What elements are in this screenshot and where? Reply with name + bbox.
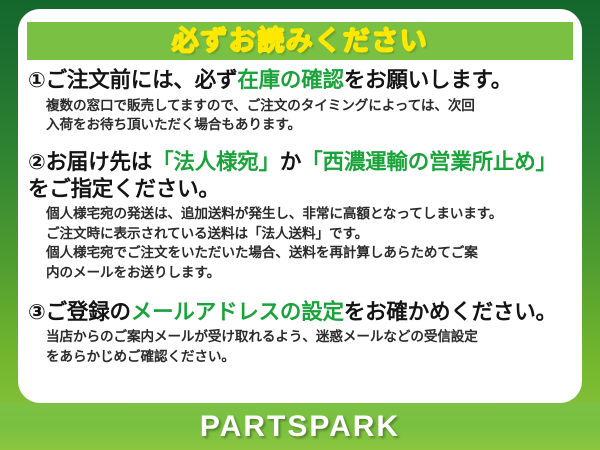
section-3-heading: ③ご登録のメールアドレスの設定をお確かめください。 xyxy=(28,299,572,326)
page-title: 必ずお読みください xyxy=(172,28,429,55)
section-2-number: ② xyxy=(28,151,46,174)
section-2-heading-part-1: お届け先は xyxy=(46,150,153,174)
section-1-body-line-2: 入荷をお待ち頂いただく場合もあります。 xyxy=(46,115,572,135)
section-2-body-line-1: 個人様宅宛の発送は、追加送料が発生し、非常に高額となってしまいます。 xyxy=(46,204,572,224)
section-3-body-line-1: 当店からのご案内メールが受け取れるよう、迷惑メールなどの受信設定 xyxy=(46,327,572,347)
notice-content: ①ご注文前には、必ず在庫の確認をお願いします。 複数の窓口で販売してますので、ご… xyxy=(18,67,582,374)
section-3-body: 当店からのご案内メールが受け取れるよう、迷惑メールなどの受信設定 をあらかじめご… xyxy=(28,327,572,366)
section-1-heading-highlight: 在庫の確認 xyxy=(237,68,344,92)
section-3-heading-part-3: をお確かめください。 xyxy=(344,300,557,324)
section-1-number: ① xyxy=(28,69,46,92)
notice-section-2: ②お届け先は「法人様宛」か「西濃運輸の営業所止め」 をご指定ください。 個人様宅… xyxy=(28,149,572,283)
section-2-heading-line-2: をご指定ください。 xyxy=(28,176,572,202)
section-2-body-line-3: 個人様宅宛でご注文をいただいた場合、送料を再計算しあらためてご案 xyxy=(46,243,572,263)
section-2-heading-part-3: か xyxy=(280,150,301,174)
section-2-body: 個人様宅宛の発送は、追加送料が発生し、非常に高額となってしまいます。 ご注文時に… xyxy=(28,204,572,283)
section-2-heading: ②お届け先は「法人様宛」か「西濃運輸の営業所止め」 xyxy=(28,149,572,176)
notice-section-3: ③ご登録のメールアドレスの設定をお確かめください。 当店からのご案内メールが受け… xyxy=(28,299,572,367)
section-1-heading: ①ご注文前には、必ず在庫の確認をお願いします。 xyxy=(28,67,572,94)
section-1-heading-part-1: ご注文前には、必ず xyxy=(46,68,238,92)
section-3-body-line-2: をあらかじめご確認ください。 xyxy=(46,347,572,367)
section-1-body-line-1: 複数の窓口で販売してますので、ご注文のタイミングによっては、次回 xyxy=(46,96,572,116)
section-2-heading-highlight-1: 「法人様宛」 xyxy=(152,150,280,174)
brand-logo: PARTSPARK xyxy=(200,412,400,442)
section-3-number: ③ xyxy=(28,301,46,324)
section-3-heading-highlight: メールアドレスの設定 xyxy=(131,300,344,324)
footer-band: PARTSPARK xyxy=(0,403,600,450)
notice-card: 必ずお読みください ①ご注文前には、必ず在庫の確認をお願いします。 複数の窓口で… xyxy=(18,9,582,403)
section-2-body-line-2: ご注文時に表示されている送料は「法人送料」です。 xyxy=(46,224,572,244)
section-1-heading-part-3: をお願いします。 xyxy=(344,68,512,92)
notice-banner: 必ずお読みください ①ご注文前には、必ず在庫の確認をお願いします。 複数の窓口で… xyxy=(0,0,600,450)
section-3-heading-part-1: ご登録の xyxy=(46,300,131,324)
header-band: 必ずお読みください xyxy=(27,22,573,60)
section-2-heading-highlight-2: 「西濃運輸の営業所止め」 xyxy=(301,150,557,174)
section-1-body: 複数の窓口で販売してますので、ご注文のタイミングによっては、次回 入荷をお待ち頂… xyxy=(28,96,572,135)
notice-section-1: ①ご注文前には、必ず在庫の確認をお願いします。 複数の窓口で販売してますので、ご… xyxy=(28,67,572,135)
section-2-body-line-4: 内のメールをお送りします。 xyxy=(46,263,572,283)
